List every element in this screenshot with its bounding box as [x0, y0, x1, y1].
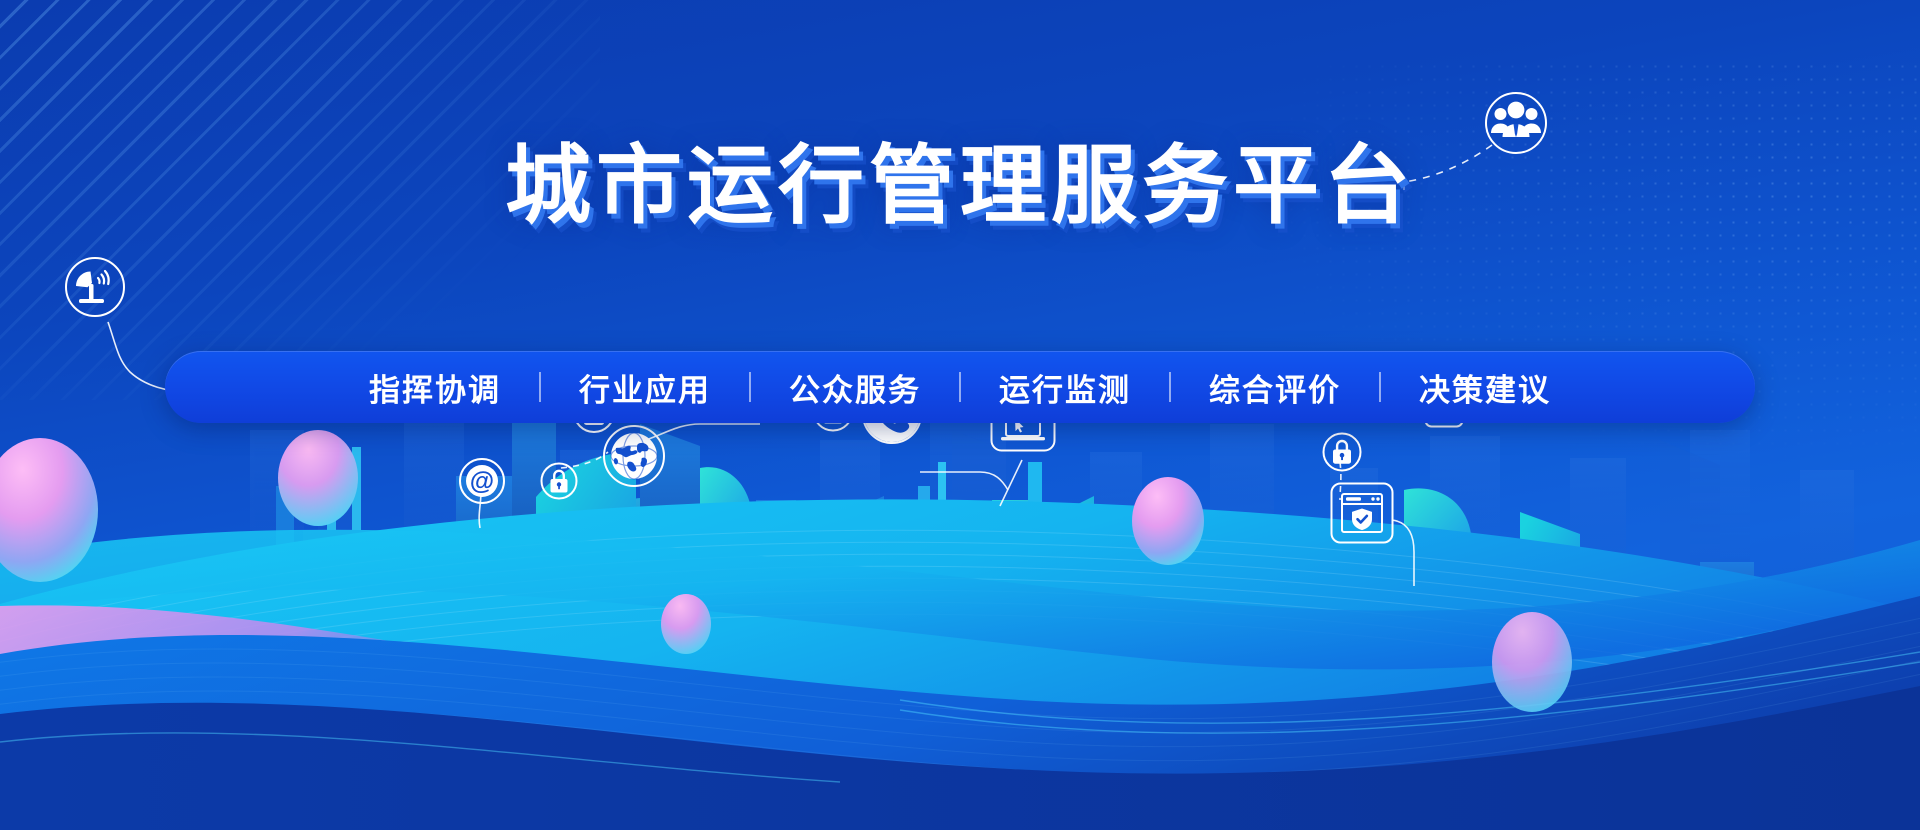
main-nav-items: 指挥协调行业应用公众服务运行监测综合评价决策建议	[331, 365, 1589, 410]
banner-title-wrap: 城市运行管理服务平台	[0, 140, 1920, 233]
browser-shield-icon[interactable]	[1330, 482, 1394, 544]
wave-layers	[0, 499, 1920, 830]
satellite-dish-icon[interactable]	[58, 250, 132, 324]
nav-item-6[interactable]: 决策建议	[1381, 365, 1589, 410]
main-nav-bar: 指挥协调行业应用公众服务运行监测综合评价决策建议	[165, 351, 1755, 423]
nav-item-3[interactable]: 公众服务	[751, 365, 959, 410]
lock-icon-2[interactable]	[538, 460, 580, 502]
nav-item-5[interactable]: 综合评价	[1171, 365, 1379, 410]
sphere-far	[1492, 612, 1572, 712]
at-email-icon[interactable]: @	[455, 454, 509, 508]
lock-icon-4[interactable]	[1320, 430, 1364, 474]
nav-item-1[interactable]: 指挥协调	[331, 365, 539, 410]
city-platform-banner: @	[0, 0, 1920, 830]
sphere-right	[1132, 477, 1204, 565]
sphere-mid	[278, 430, 358, 526]
page-title: 城市运行管理服务平台	[505, 140, 1415, 233]
svg-text:@: @	[470, 468, 494, 496]
sphere-bottom	[661, 594, 711, 654]
nav-item-2[interactable]: 行业应用	[541, 365, 749, 410]
globe-icon[interactable]	[598, 420, 670, 492]
nav-item-4[interactable]: 运行监测	[961, 365, 1169, 410]
